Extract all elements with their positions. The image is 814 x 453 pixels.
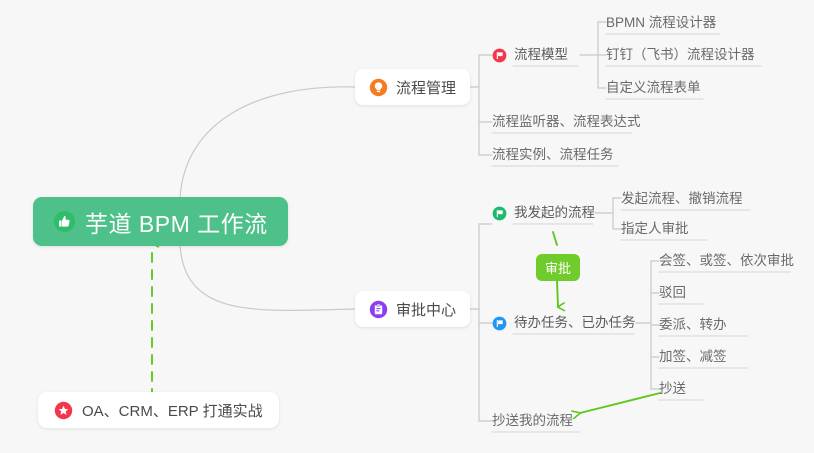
leaf-my-initiated-process-label: 我发起的流程	[514, 202, 595, 224]
topic-process-management-label: 流程管理	[396, 77, 456, 98]
leaf-cc-to-me-process[interactable]: 抄送我的流程	[492, 410, 573, 432]
flag-circle-icon	[492, 206, 507, 221]
leaf-bpmn-designer-label: BPMN 流程设计器	[606, 12, 716, 34]
leaf-add-remove-sign-label: 加签、减签	[659, 346, 727, 368]
leaf-bpmn-designer[interactable]: BPMN 流程设计器	[606, 12, 716, 34]
leaf-my-initiated-process[interactable]: 我发起的流程	[492, 202, 595, 224]
lightbulb-icon	[369, 78, 388, 97]
leaf-cc-label: 抄送	[659, 378, 686, 400]
leaf-process-model-label: 流程模型	[514, 44, 568, 66]
topic-approval-center[interactable]: 审批中心	[355, 291, 470, 327]
leaf-todo-done-tasks-label: 待办任务、已办任务	[514, 312, 636, 334]
leaf-delegate-transfer[interactable]: 委派、转办	[659, 314, 727, 336]
root-node[interactable]: 芋道 BPM 工作流	[33, 197, 288, 246]
leaf-delegate-transfer-label: 委派、转办	[659, 314, 727, 336]
integration-callout[interactable]: OA、CRM、ERP 打通实战	[38, 392, 279, 428]
arrow-cc-to-ccme	[580, 393, 660, 413]
edge-root-to-process-management	[180, 87, 355, 198]
leaf-reject[interactable]: 驳回	[659, 282, 686, 304]
root-label: 芋道 BPM 工作流	[85, 205, 268, 239]
integration-callout-label: OA、CRM、ERP 打通实战	[82, 400, 263, 421]
leaf-process-listener-expression-label: 流程监听器、流程表达式	[492, 111, 641, 133]
leaf-process-instance-task-label: 流程实例、流程任务	[492, 144, 614, 166]
clipboard-icon	[369, 300, 388, 319]
leaf-todo-done-tasks[interactable]: 待办任务、已办任务	[492, 312, 636, 334]
arrow-mine-to-badge	[553, 232, 557, 245]
arrow-badge-to-todo	[557, 281, 558, 307]
leaf-start-cancel-process-label: 发起流程、撤销流程	[621, 188, 743, 210]
leaf-reject-label: 驳回	[659, 282, 686, 304]
approval-badge-label: 审批	[545, 258, 571, 277]
edge-root-to-approval-center	[180, 245, 355, 310]
star-circle-icon	[54, 401, 73, 420]
flag-circle-icon	[492, 316, 507, 331]
flag-circle-icon	[492, 48, 507, 63]
leaf-custom-process-form-label: 自定义流程表单	[606, 77, 701, 99]
topic-approval-center-label: 审批中心	[396, 299, 456, 320]
approval-badge[interactable]: 审批	[536, 254, 580, 281]
leaf-dingtalk-feishu-designer[interactable]: 钉钉（飞书）流程设计器	[606, 44, 755, 66]
leaf-countersign-orsign-sequential[interactable]: 会签、或签、依次审批	[659, 250, 794, 272]
leaf-assignee-approval[interactable]: 指定人审批	[621, 218, 689, 240]
leaf-add-remove-sign[interactable]: 加签、减签	[659, 346, 727, 368]
topic-process-management[interactable]: 流程管理	[355, 69, 470, 105]
leaf-assignee-approval-label: 指定人审批	[621, 218, 689, 240]
leaf-dingtalk-feishu-designer-label: 钉钉（飞书）流程设计器	[606, 44, 755, 66]
leaf-cc[interactable]: 抄送	[659, 378, 686, 400]
leaf-custom-process-form[interactable]: 自定义流程表单	[606, 77, 701, 99]
leaf-process-listener-expression[interactable]: 流程监听器、流程表达式	[492, 111, 641, 133]
leaf-start-cancel-process[interactable]: 发起流程、撤销流程	[621, 188, 743, 210]
thumbs-up-icon	[53, 210, 76, 233]
leaf-process-instance-task[interactable]: 流程实例、流程任务	[492, 144, 614, 166]
mindmap-canvas: 芋道 BPM 工作流 流程管理 流程模型 BPMN 流程设计器 钉钉（飞书）流程…	[0, 0, 814, 453]
leaf-process-model[interactable]: 流程模型	[492, 44, 568, 66]
leaf-cc-to-me-process-label: 抄送我的流程	[492, 410, 573, 432]
leaf-countersign-orsign-sequential-label: 会签、或签、依次审批	[659, 250, 794, 272]
